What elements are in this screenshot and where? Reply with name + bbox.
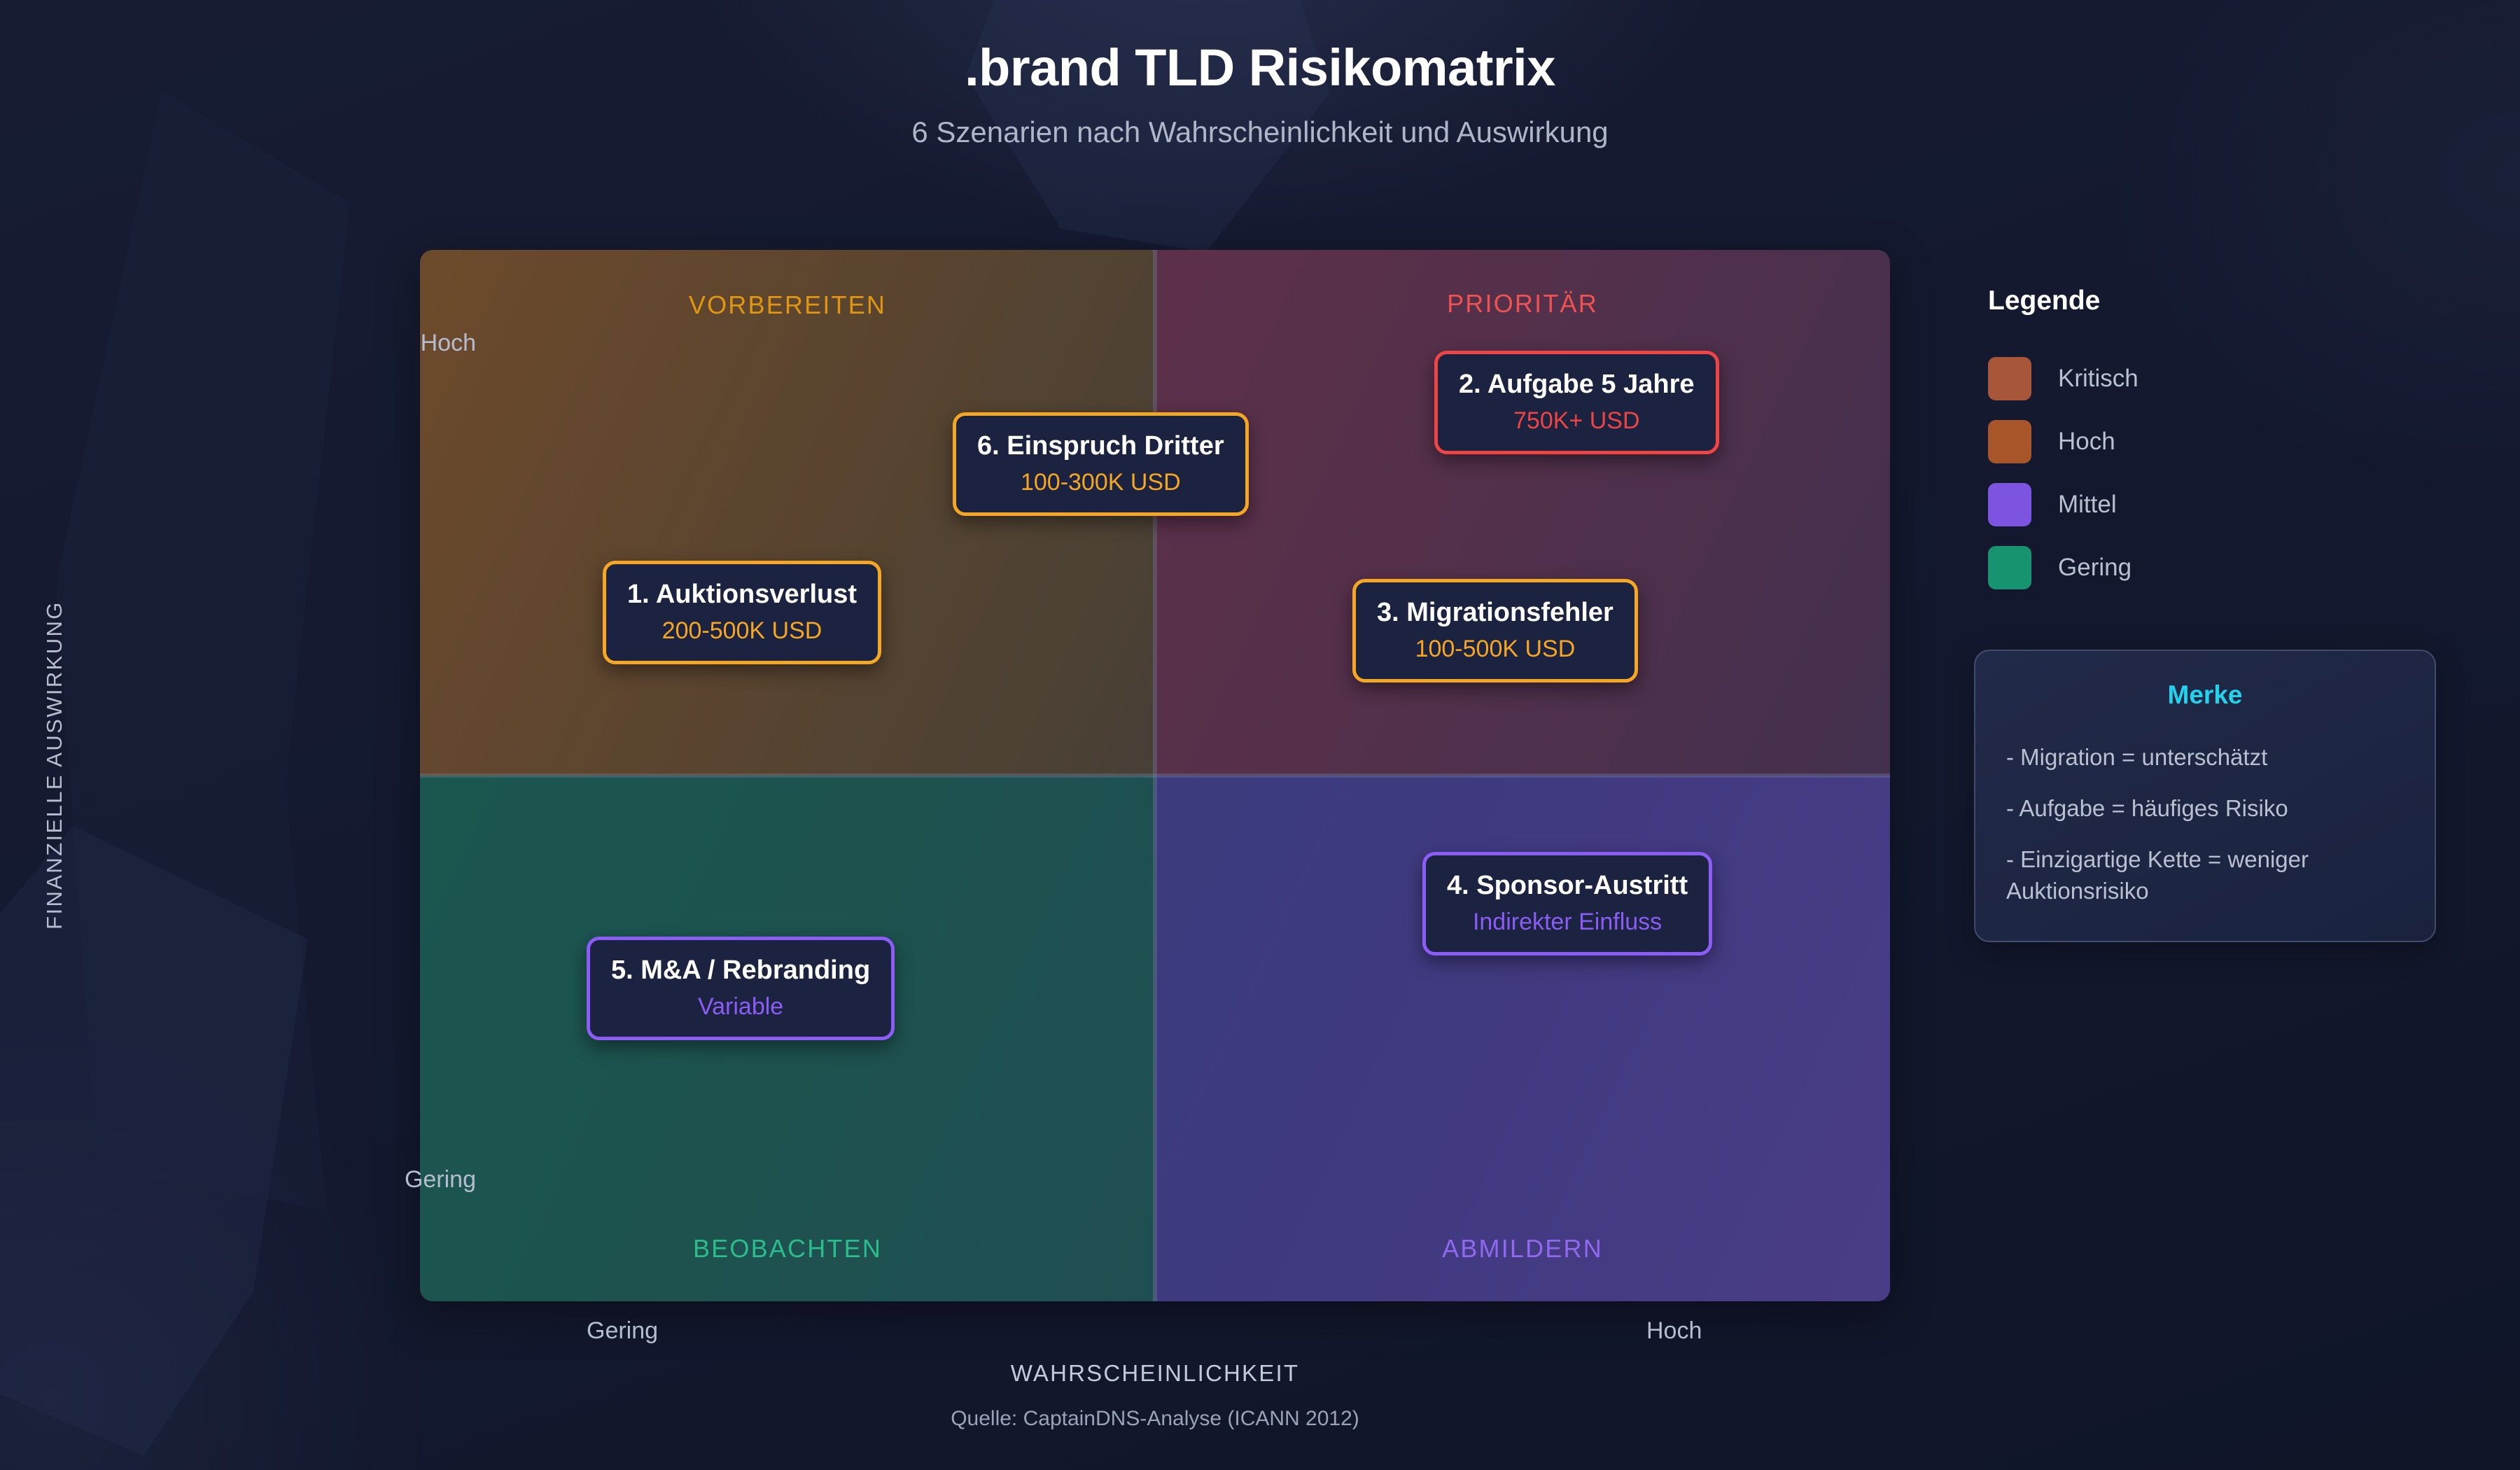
legend-item-label: Mittel xyxy=(2058,491,2117,519)
legend-title: Legende xyxy=(1988,286,2436,316)
chart-header: .brand TLD Risikomatrix 6 Szenarien nach… xyxy=(0,0,2520,148)
legend-item-label: Kritisch xyxy=(2058,365,2138,393)
y-axis-tick-low: Gering xyxy=(294,1166,476,1193)
y-axis-title: FINANZIELLE AUSWIRKUNG xyxy=(42,583,67,947)
risk-card-value: 100-300K USD xyxy=(977,470,1224,496)
legend-swatch-icon xyxy=(1988,483,2031,526)
legend-item-kritisch[interactable]: Kritisch xyxy=(1988,347,2436,410)
quadrant-label-vorbereiten: VORBEREITEN xyxy=(420,290,1155,320)
note-panel: Merke - Migration = unterschätzt - Aufga… xyxy=(1974,650,2436,942)
legend: Legende Kritisch Hoch Mittel Gering xyxy=(1988,286,2436,599)
note-item: - Migration = unterschätzt xyxy=(2006,742,2404,773)
risk-card-value: 750K+ USD xyxy=(1459,408,1695,434)
risk-card-5[interactable]: 5. M&A / Rebranding Variable xyxy=(587,937,895,1040)
risk-card-title: 1. Auktionsverlust xyxy=(627,580,857,610)
y-axis-tick-high: Hoch xyxy=(294,330,476,357)
risk-card-value: 100-500K USD xyxy=(1377,636,1613,662)
note-panel-title: Merke xyxy=(2006,680,2404,710)
legend-item-label: Gering xyxy=(2058,554,2131,582)
source-note: Quelle: CaptainDNS-Analyse (ICANN 2012) xyxy=(420,1407,1890,1431)
risk-card-2[interactable]: 2. Aufgabe 5 Jahre 750K+ USD xyxy=(1434,351,1719,454)
risk-card-1[interactable]: 1. Auktionsverlust 200-500K USD xyxy=(603,561,881,664)
x-axis-tick-low: Gering xyxy=(587,1317,658,1345)
risk-card-title: 2. Aufgabe 5 Jahre xyxy=(1459,370,1695,400)
risk-card-3[interactable]: 3. Migrationsfehler 100-500K USD xyxy=(1352,579,1638,682)
note-item: - Aufgabe = häufiges Risiko xyxy=(2006,793,2404,825)
x-axis-tick-high: Hoch xyxy=(1646,1317,1702,1345)
risk-card-value: Variable xyxy=(611,994,870,1020)
quadrant-divider-horizontal xyxy=(420,773,1890,778)
risk-matrix: VORBEREITEN PRIORITÄR BEOBACHTEN ABMILDE… xyxy=(420,250,1890,1301)
note-item: - Einzigartige Kette = weniger Auktionsr… xyxy=(2006,844,2404,907)
risk-card-value: Indirekter Einfluss xyxy=(1447,909,1688,935)
legend-item-label: Hoch xyxy=(2058,428,2115,456)
quadrant-top-right xyxy=(1155,250,1890,776)
legend-swatch-icon xyxy=(1988,420,2031,463)
risk-card-title: 5. M&A / Rebranding xyxy=(611,955,870,986)
risk-card-title: 4. Sponsor-Austritt xyxy=(1447,871,1688,901)
x-axis-title: WAHRSCHEINLICHKEIT xyxy=(420,1360,1890,1387)
risk-card-title: 6. Einspruch Dritter xyxy=(977,431,1224,461)
legend-item-mittel[interactable]: Mittel xyxy=(1988,473,2436,536)
page-title: .brand TLD Risikomatrix xyxy=(0,41,2520,95)
page-subtitle: 6 Szenarien nach Wahrscheinlichkeit und … xyxy=(0,116,2520,148)
legend-item-hoch[interactable]: Hoch xyxy=(1988,410,2436,473)
legend-swatch-icon xyxy=(1988,357,2031,400)
quadrant-label-beobachten: BEOBACHTEN xyxy=(420,1234,1155,1263)
legend-swatch-icon xyxy=(1988,546,2031,589)
risk-card-title: 3. Migrationsfehler xyxy=(1377,598,1613,628)
quadrant-label-abmildern: ABMILDERN xyxy=(1155,1234,1890,1263)
risk-card-value: 200-500K USD xyxy=(627,618,857,644)
risk-card-6[interactable]: 6. Einspruch Dritter 100-300K USD xyxy=(953,412,1249,516)
legend-item-gering[interactable]: Gering xyxy=(1988,536,2436,599)
quadrant-label-prioritaer: PRIORITÄR xyxy=(1155,289,1890,318)
risk-card-4[interactable]: 4. Sponsor-Austritt Indirekter Einfluss xyxy=(1422,852,1712,955)
